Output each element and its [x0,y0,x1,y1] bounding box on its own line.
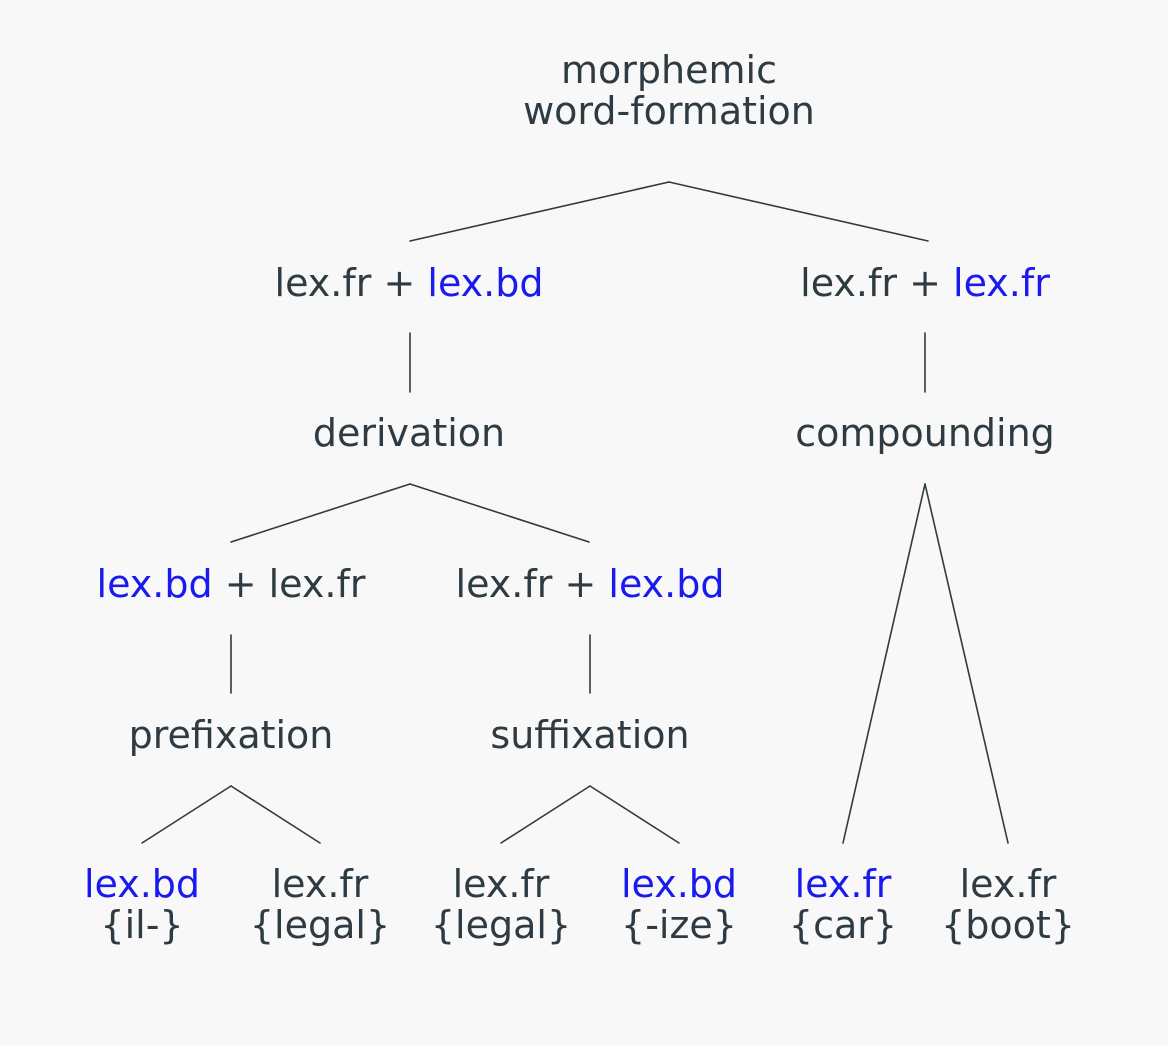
leaf-morpheme: {boot} [941,905,1075,946]
node-label: derivation [313,411,505,455]
edge-prefixation-to-leaf1 [142,786,231,843]
node-label: suffixation [490,713,689,757]
root-line-1: morphemic [523,50,815,91]
node-suffixation-pattern: lex.fr + lex.bd [456,564,725,605]
leaf-type: lex.fr [789,864,897,905]
node-compounding: compounding [795,413,1055,454]
leaf-node: lex.fr {legal} [431,864,571,946]
pattern-left-type: lex.bd [97,562,213,606]
edge-derivation-to-prefix-pattern [231,484,410,542]
pattern-right-type: lex.bd [427,261,543,305]
edge-root-to-derivation-branch [410,182,669,241]
leaf-node: lex.fr {boot} [941,864,1075,946]
leaf-type: lex.fr [941,864,1075,905]
node-prefixation: prefixation [129,715,334,756]
node-label: prefixation [129,713,334,757]
node-prefixation-pattern: lex.bd + lex.fr [97,564,366,605]
leaf-morpheme: {il-} [84,905,200,946]
node-derivation-pattern: lex.fr + lex.bd [275,263,544,304]
node-suffixation: suffixation [490,715,689,756]
pattern-plus: + [225,562,269,606]
root-line-2: word-formation [523,91,815,132]
edge-suffixation-to-leaf3 [501,786,590,843]
node-derivation: derivation [313,413,505,454]
pattern-left-type: lex.fr [456,562,553,606]
pattern-plus: + [909,261,953,305]
diagram-canvas: morphemic word-formation lex.fr + lex.bd… [0,0,1168,1046]
edge-root-to-compounding-branch [669,182,928,241]
edge-compounding-to-leaf6 [925,484,1008,843]
leaf-type: lex.fr [250,864,390,905]
leaf-morpheme: {legal} [431,905,571,946]
pattern-left-type: lex.fr [800,261,897,305]
leaf-morpheme: {legal} [250,905,390,946]
leaf-morpheme: {-ize} [621,905,737,946]
leaf-type: lex.bd [621,864,737,905]
edge-derivation-to-suffix-pattern [410,484,589,542]
edge-prefixation-to-leaf2 [231,786,320,843]
node-compounding-pattern: lex.fr + lex.fr [800,263,1050,304]
leaf-node: lex.bd {-ize} [621,864,737,946]
node-root: morphemic word-formation [523,50,815,132]
pattern-left-type: lex.fr [275,261,372,305]
leaf-node: lex.bd {il-} [84,864,200,946]
node-label: compounding [795,411,1055,455]
pattern-plus: + [564,562,608,606]
leaf-morpheme: {car} [789,905,897,946]
pattern-plus: + [383,261,427,305]
leaf-type: lex.fr [431,864,571,905]
leaf-type: lex.bd [84,864,200,905]
edge-suffixation-to-leaf4 [590,786,679,843]
leaf-node: lex.fr {car} [789,864,897,946]
leaf-node: lex.fr {legal} [250,864,390,946]
edge-compounding-to-leaf5 [843,484,925,843]
pattern-right-type: lex.fr [953,261,1050,305]
pattern-right-type: lex.bd [608,562,724,606]
pattern-right-type: lex.fr [269,562,366,606]
